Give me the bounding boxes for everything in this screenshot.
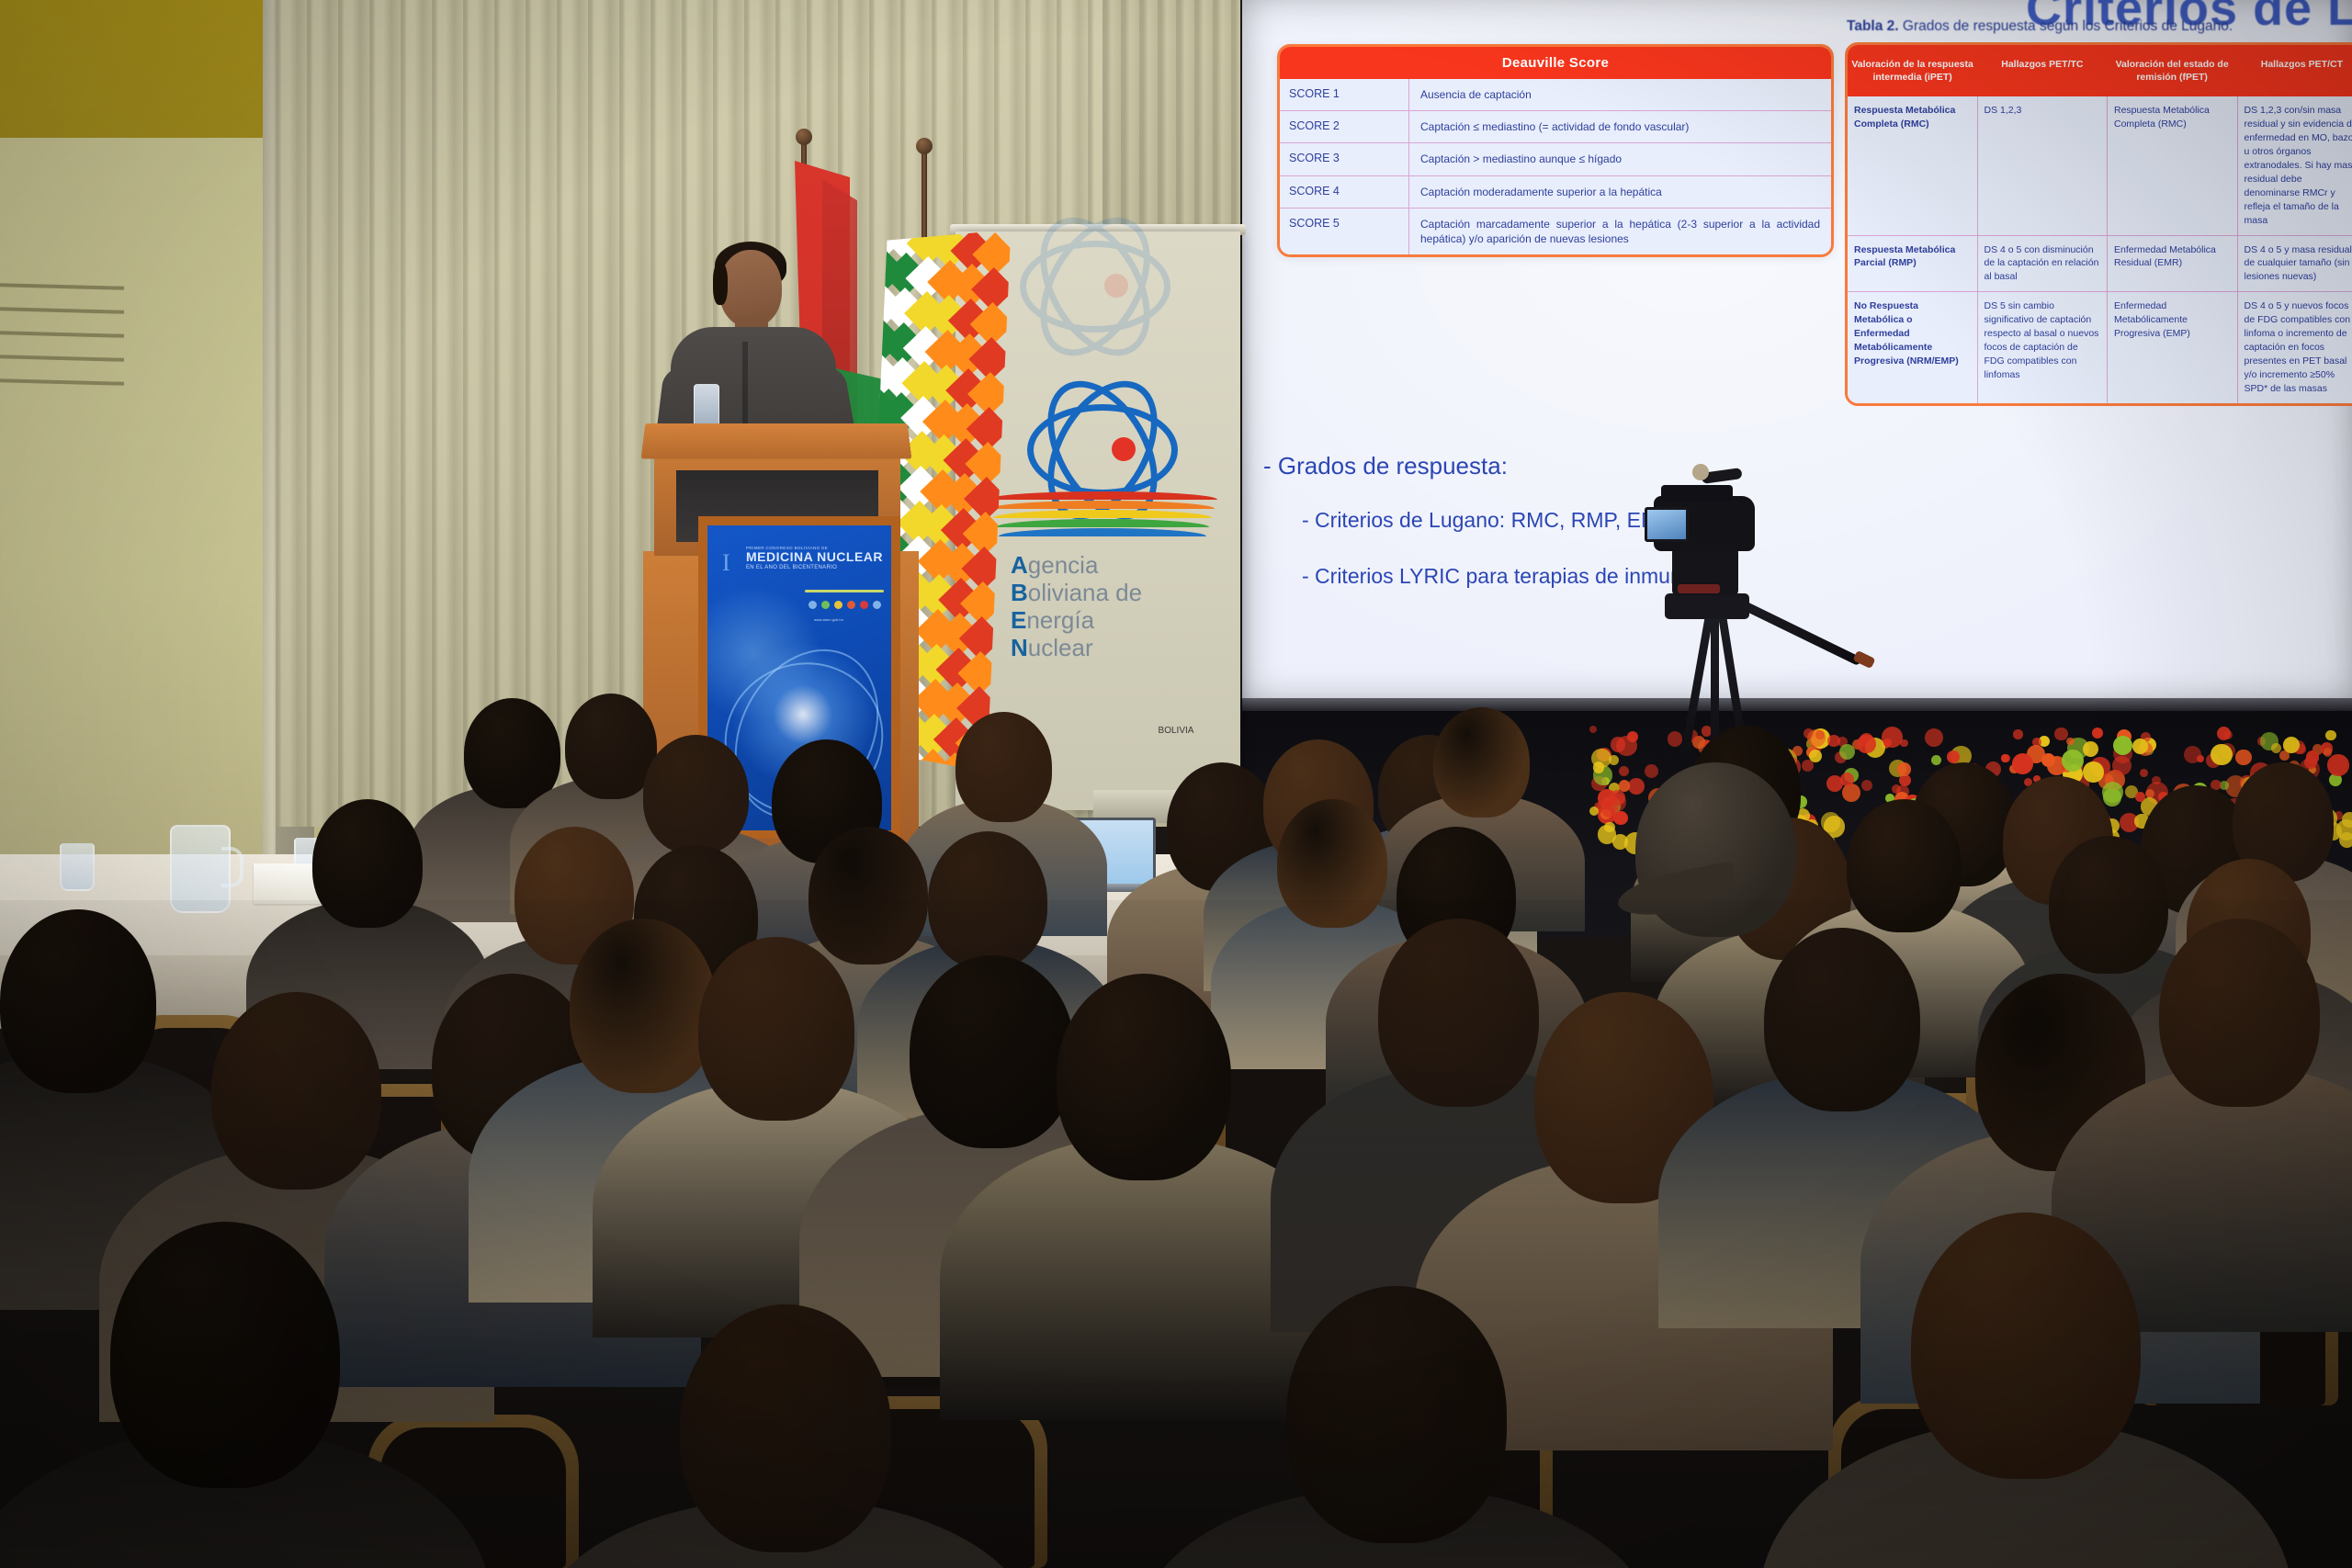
deauville-score-description: Captación moderadamente superior a la he… bbox=[1409, 176, 1831, 208]
deauville-table-row: SCORE 2Captación ≤ mediastino (= activid… bbox=[1280, 110, 1831, 142]
sponsor-dot bbox=[873, 601, 881, 609]
flower bbox=[2235, 750, 2252, 766]
congress-url: www.aben.gob.bo bbox=[814, 617, 843, 622]
lugano-cell: DS 4 o 5 y masa residual de cualquier ta… bbox=[2237, 236, 2352, 292]
lugano-table-row: No Respuesta Metabólica o Enfermedad Met… bbox=[1848, 291, 2352, 402]
deauville-score-label: SCORE 4 bbox=[1280, 176, 1409, 208]
flower bbox=[1589, 726, 1597, 733]
congress-kicker: PRIMER CONGRESO BOLIVIANO DE bbox=[746, 546, 884, 550]
flower bbox=[2054, 728, 2067, 740]
audience-member-head bbox=[928, 831, 1047, 969]
lugano-table-row: Respuesta Metabólica Parcial (RMP)DS 4 o… bbox=[1848, 235, 2352, 292]
podium-lectern-top bbox=[641, 423, 912, 459]
deauville-score-label: SCORE 2 bbox=[1280, 111, 1409, 142]
camera-red-trim bbox=[1678, 584, 1720, 593]
congress-subtitle: EN EL AÑO DEL BICENTENARIO bbox=[746, 565, 884, 570]
audience-member-head bbox=[1764, 928, 1920, 1111]
audience-member-head bbox=[2159, 919, 2320, 1107]
flower bbox=[1827, 735, 1839, 747]
flower bbox=[2083, 741, 2098, 757]
flower bbox=[1645, 764, 1658, 778]
flower bbox=[1792, 746, 1803, 756]
flower bbox=[1861, 780, 1872, 791]
flower bbox=[1900, 739, 1907, 747]
lugano-cell: No Respuesta Metabólica o Enfermedad Met… bbox=[1848, 292, 1977, 402]
sponsor-dot bbox=[860, 601, 868, 609]
congress-sponsor-dots bbox=[808, 601, 881, 609]
flower bbox=[2135, 792, 2145, 802]
flower bbox=[2113, 736, 2132, 755]
deauville-score-label: SCORE 1 bbox=[1280, 79, 1409, 110]
lugano-cell: DS 4 o 5 con disminución de la captación… bbox=[1977, 236, 2108, 292]
audience-member-head bbox=[1057, 974, 1231, 1180]
flower bbox=[1619, 766, 1629, 776]
speaker-head bbox=[719, 250, 782, 327]
lugano-column-header: Valoración de la respuesta intermedia (i… bbox=[1848, 45, 1977, 96]
audience-member-head bbox=[2049, 836, 2168, 974]
flower bbox=[1668, 731, 1682, 746]
flower bbox=[1857, 735, 1876, 754]
table2-caption-label: Tabla 2. bbox=[1847, 18, 1899, 34]
flower bbox=[2083, 761, 2104, 783]
aben-name-line: Nuclear bbox=[1011, 634, 1142, 661]
conference-photo-scene: Criterios de Lugano y Deauville Tabla 2.… bbox=[0, 0, 2352, 1568]
sponsor-dot bbox=[834, 601, 842, 609]
audience-member-head bbox=[680, 1304, 891, 1552]
table2-caption: Tabla 2. Grados de respuesta según los C… bbox=[1847, 18, 2352, 35]
audience-member-head bbox=[643, 735, 749, 854]
audience-member-head bbox=[110, 1222, 340, 1488]
flower bbox=[2062, 750, 2084, 772]
lugano-cell: DS 5 sin cambio significativo de captaci… bbox=[1977, 292, 2108, 402]
audience-member-head bbox=[808, 827, 928, 964]
flower bbox=[1609, 755, 1619, 765]
audience-member-head bbox=[1911, 1213, 2141, 1479]
audience-member-head bbox=[0, 909, 156, 1093]
flower bbox=[1925, 728, 1943, 747]
sponsor-dot bbox=[808, 601, 817, 609]
flower bbox=[2211, 744, 2232, 765]
audience-member-head bbox=[1433, 707, 1530, 818]
lugano-cell: Respuesta Metabólica Completa (RMC) bbox=[2107, 96, 2237, 234]
aben-name-line: Agencia bbox=[1011, 551, 1142, 579]
flower bbox=[2140, 769, 2148, 777]
water-pitcher-icon bbox=[170, 825, 231, 913]
flower bbox=[2012, 753, 2033, 774]
flower bbox=[1809, 750, 1822, 762]
audience-member-head bbox=[1286, 1286, 1507, 1543]
flagpole-finial-bolivia bbox=[796, 129, 812, 145]
camera-hood bbox=[1661, 485, 1733, 502]
lugano-criteria-table: Valoración de la respuesta intermedia (i… bbox=[1845, 42, 2352, 406]
audience-member-head bbox=[955, 712, 1052, 822]
tripod-head bbox=[1665, 593, 1749, 619]
deauville-table-header: Deauville Score bbox=[1280, 47, 1831, 79]
audience-member-head bbox=[698, 937, 854, 1121]
congress-divider bbox=[805, 590, 884, 592]
deauville-score-label: SCORE 3 bbox=[1280, 143, 1409, 175]
flower-yellow bbox=[2342, 812, 2352, 827]
deauville-score-table: Deauville Score SCORE 1Ausencia de capta… bbox=[1277, 44, 1834, 257]
aben-name-line: Energía bbox=[1011, 606, 1142, 634]
camera-mic-windscreen bbox=[1692, 464, 1709, 480]
lugano-table-row: Respuesta Metabólica Completa (RMC)DS 1,… bbox=[1848, 96, 2352, 234]
flower bbox=[1883, 739, 1892, 747]
screen-bottom-frame bbox=[1242, 698, 2352, 711]
flower bbox=[2327, 754, 2349, 776]
flower bbox=[2271, 743, 2281, 753]
flagpole-finial-wiphala bbox=[916, 138, 933, 154]
flower bbox=[2283, 737, 2300, 753]
lugano-cell: DS 1,2,3 bbox=[1977, 96, 2108, 234]
drinking-glass-icon-table-2 bbox=[60, 843, 95, 891]
flower bbox=[1807, 729, 1826, 748]
atom-icon-watermark bbox=[1020, 241, 1194, 360]
flower bbox=[1931, 755, 1941, 765]
table2-caption-text: Grados de respuesta según los Criterios … bbox=[1899, 18, 2233, 34]
flower bbox=[2066, 738, 2074, 745]
congress-roman-numeral: I bbox=[722, 549, 730, 577]
lugano-cell: Enfermedad Metabólica Residual (EMR) bbox=[2107, 236, 2237, 292]
flower bbox=[2112, 756, 2131, 775]
lugano-cell: DS 4 o 5 y nuevos focos de FDG compatibl… bbox=[2237, 292, 2352, 402]
deauville-score-description: Captación marcadamente superior a la hep… bbox=[1409, 209, 1831, 254]
audience-member-head bbox=[570, 919, 717, 1093]
wall-vent-icon bbox=[0, 285, 124, 404]
flagpole-wiphala bbox=[922, 147, 927, 248]
deauville-table-body: SCORE 1Ausencia de captaciónSCORE 2Capta… bbox=[1280, 79, 1831, 254]
flower bbox=[2325, 730, 2336, 741]
flower bbox=[2132, 739, 2148, 754]
deauville-table-row: SCORE 3Captación > mediastino aunque ≤ h… bbox=[1280, 142, 1831, 175]
bullet-item-lyric: - Criterios LYRIC para terapias de inmun… bbox=[1302, 564, 1833, 589]
flower-yellow bbox=[1589, 807, 1599, 816]
sponsor-dot bbox=[847, 601, 855, 609]
lugano-column-header: Hallazgos PET/CT bbox=[2237, 45, 2352, 96]
audience-member-head bbox=[1847, 799, 1962, 932]
lugano-cell: DS 1,2,3 con/sin masa residual y sin evi… bbox=[2237, 96, 2352, 234]
audience-member-head bbox=[211, 992, 381, 1190]
banner-country-label: BOLIVIA bbox=[1125, 726, 1227, 736]
flower bbox=[2013, 729, 2023, 739]
speaker-hair-side bbox=[713, 263, 728, 305]
flower bbox=[1628, 778, 1645, 795]
lugano-cell: Respuesta Metabólica Parcial (RMP) bbox=[1848, 236, 1977, 292]
deauville-score-description: Ausencia de captación bbox=[1409, 79, 1831, 110]
audience-member-head bbox=[1378, 919, 1539, 1107]
audience-member-head bbox=[910, 955, 1075, 1148]
congress-title: MEDICINA NUCLEAR bbox=[746, 550, 884, 563]
audience-member-head bbox=[1277, 799, 1387, 928]
deauville-score-description: Captación ≤ mediastino (= actividad de f… bbox=[1409, 111, 1831, 142]
lugano-table-header-row: Valoración de la respuesta intermedia (i… bbox=[1848, 45, 2352, 96]
flower bbox=[2306, 750, 2319, 763]
rainbow-arc bbox=[988, 491, 1217, 545]
lugano-column-header: Valoración del estado de remisión (fPET) bbox=[2108, 45, 2237, 96]
flower bbox=[1897, 762, 1910, 775]
flower bbox=[1839, 744, 1855, 760]
flower bbox=[1627, 731, 1638, 742]
flower bbox=[1593, 761, 1604, 773]
camera-flip-screen bbox=[1645, 507, 1689, 542]
bullet-heading: - Grados de respuesta: bbox=[1263, 452, 1833, 480]
deauville-score-label: SCORE 5 bbox=[1280, 209, 1409, 254]
lugano-cell: Respuesta Metabólica Completa (RMC) bbox=[1848, 96, 1977, 234]
lugano-table-body: Respuesta Metabólica Completa (RMC)DS 1,… bbox=[1848, 96, 2352, 402]
flower bbox=[1842, 784, 1860, 802]
flower bbox=[1598, 789, 1616, 807]
flower bbox=[2092, 728, 2103, 739]
lugano-column-header: Hallazgos PET/TC bbox=[1977, 45, 2107, 96]
deauville-table-row: SCORE 5Captación marcadamente superior a… bbox=[1280, 208, 1831, 254]
aben-organization-name: AgenciaBoliviana deEnergíaNuclear bbox=[1011, 551, 1142, 662]
audience-member-head bbox=[312, 799, 423, 928]
flower bbox=[2217, 727, 2231, 740]
aben-name-line: Boliviana de bbox=[1011, 579, 1142, 606]
lugano-cell: Enfermedad Metabólicamente Progresiva (E… bbox=[2107, 292, 2237, 402]
deauville-table-row: SCORE 4Captación moderadamente superior … bbox=[1280, 175, 1831, 208]
flower bbox=[1892, 784, 1901, 794]
deauville-table-row: SCORE 1Ausencia de captación bbox=[1280, 79, 1831, 110]
deauville-score-description: Captación > mediastino aunque ≤ hígado bbox=[1409, 143, 1831, 175]
sponsor-dot bbox=[821, 601, 830, 609]
